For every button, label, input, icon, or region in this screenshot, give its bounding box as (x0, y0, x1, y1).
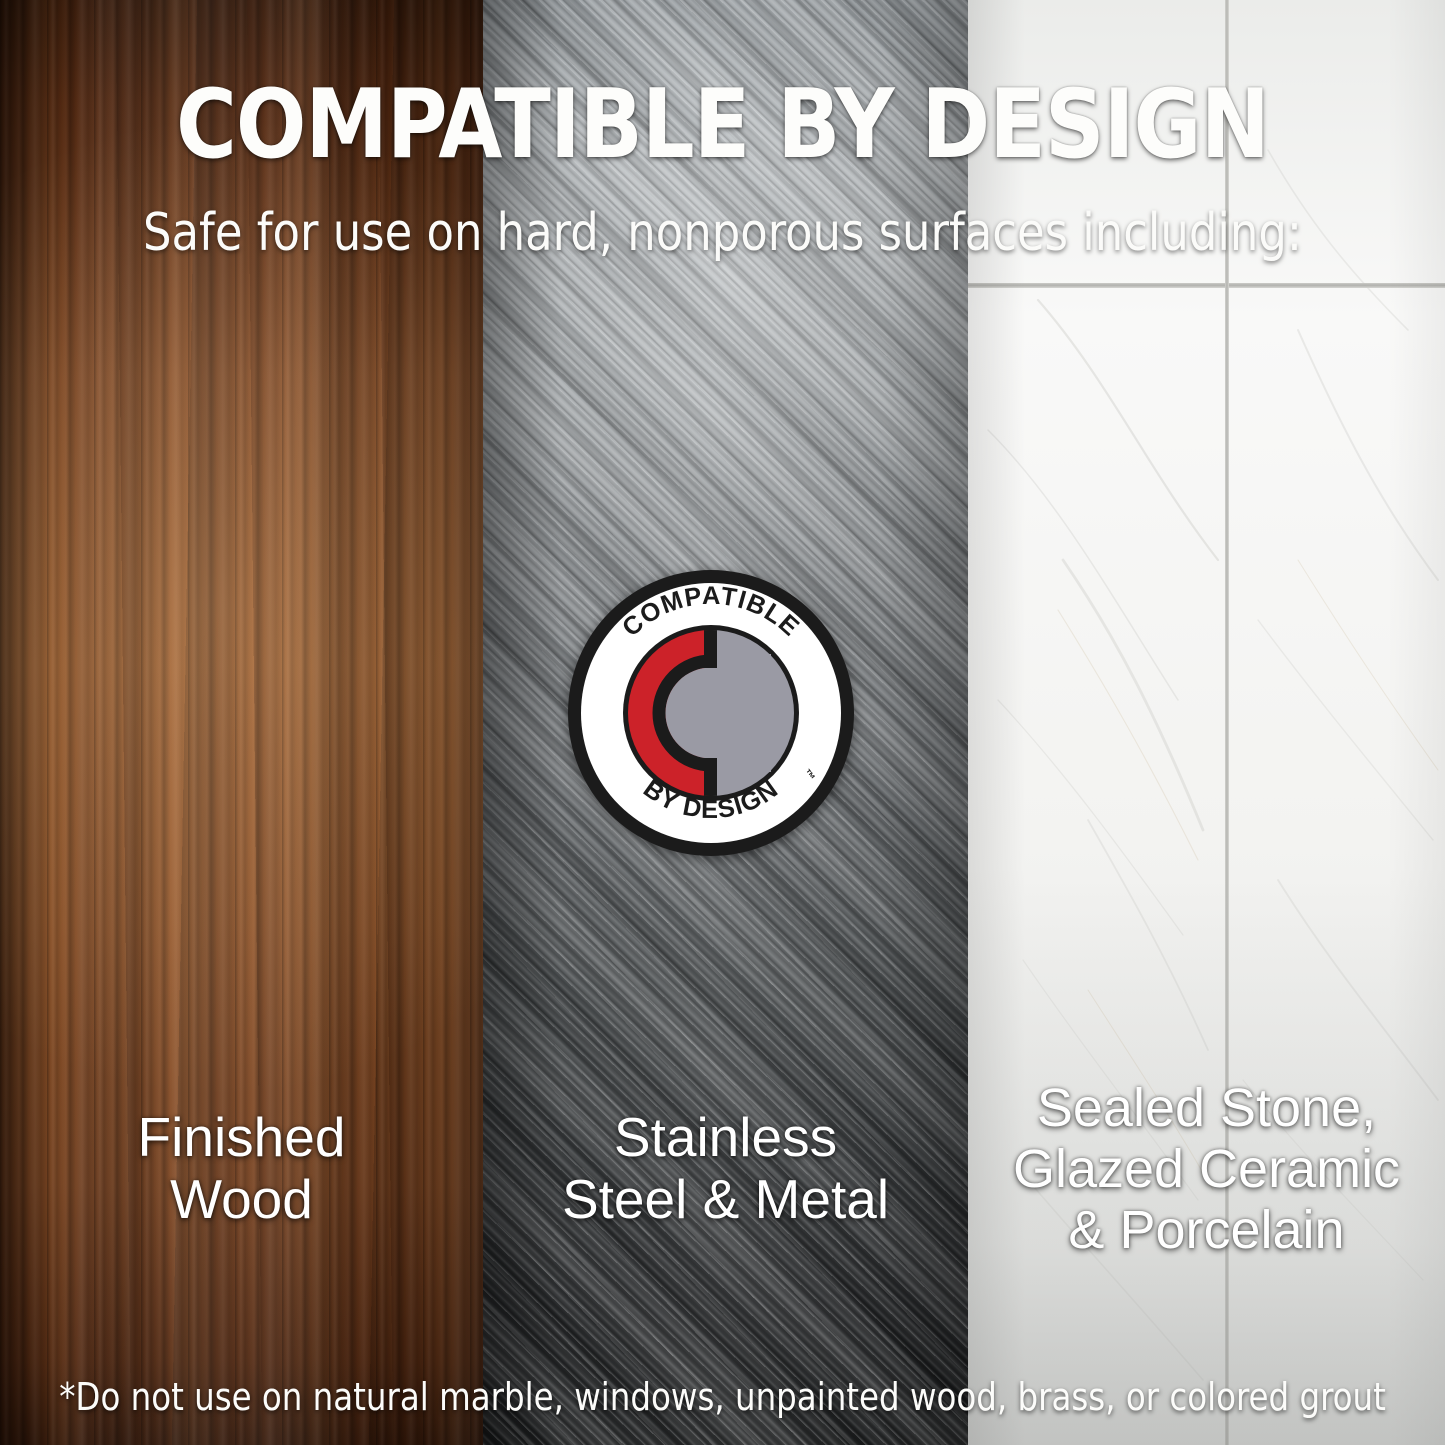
compatible-by-design-logo: COMPATIBLE BY DESIGN ™ (566, 568, 856, 858)
caption-line: Finished (0, 1106, 483, 1168)
caption-line: Wood (0, 1168, 483, 1230)
caption-line: Sealed Stone, (968, 1078, 1445, 1139)
product-feature-graphic: COMPATIBLE BY DESIGN Safe for use on har… (0, 0, 1445, 1445)
caption-sealed-stone: Sealed Stone, Glazed Ceramic & Porcelain (968, 1078, 1445, 1261)
page-title: COMPATIBLE BY DESIGN (22, 78, 1424, 173)
caption-finished-wood: Finished Wood (0, 1106, 483, 1230)
disclaimer-text: *Do not use on natural marble, windows, … (36, 1378, 1409, 1416)
content-overlay: COMPATIBLE BY DESIGN Safe for use on har… (0, 0, 1445, 1445)
page-subtitle: Safe for use on hard, nonporous surfaces… (29, 206, 1416, 261)
caption-line: Stainless (483, 1106, 968, 1168)
caption-line: & Porcelain (968, 1200, 1445, 1261)
caption-stainless-steel: Stainless Steel & Metal (483, 1106, 968, 1230)
caption-line: Glazed Ceramic (968, 1139, 1445, 1200)
caption-line: Steel & Metal (483, 1168, 968, 1230)
